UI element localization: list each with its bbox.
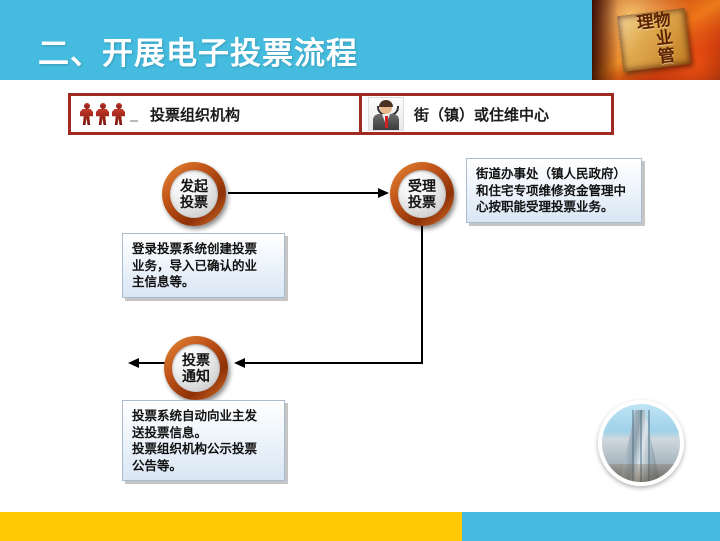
building-photo	[598, 400, 684, 486]
connector-initiate-to-accept	[228, 192, 380, 194]
arrowhead-to-notify	[234, 358, 245, 368]
operator-avatar-icon	[368, 97, 404, 131]
connector-accept-to-notify	[244, 362, 423, 364]
flow-node-accept-vote[interactable]: 受理 投票	[390, 162, 454, 226]
arrowhead-to-accept	[378, 188, 389, 198]
photo-shadow-band	[592, 0, 618, 80]
slide-canvas: 二、开展电子投票流程 物业管理 投票组织机构 街（镇）或住维中心	[0, 0, 720, 541]
flow-node-notify-line1: 投票	[182, 352, 210, 368]
flow-node-initiate-line1: 发起	[180, 178, 208, 194]
footer-bar-yellow	[0, 512, 462, 541]
callout-notify-line1: 投票系统自动向业主发	[132, 408, 276, 425]
flow-node-accept-line1: 受理	[408, 178, 436, 194]
flow-node-accept-line2: 投票	[408, 194, 436, 210]
callout-accept-line2: 和住宅专项维修资金管理中	[476, 183, 633, 200]
arrowhead-notify-out	[128, 358, 139, 368]
property-management-photo: 物业管理	[592, 0, 720, 80]
callout-notify-line4: 公告等。	[132, 458, 276, 475]
legend-cell-organizer: 投票组织机构	[71, 96, 359, 132]
photo-plaque: 物业管理	[617, 8, 691, 72]
footer-bar-cyan	[462, 512, 720, 541]
flow-node-initiate-vote[interactable]: 发起 投票	[162, 162, 226, 226]
callout-initiate-line1: 登录投票系统创建投票	[132, 241, 276, 258]
legend-cell-street-center: 街（镇）或住维中心	[362, 96, 611, 132]
callout-initiate-vote: 登录投票系统创建投票 业务，导入已确认的业 主信息等。	[122, 233, 285, 298]
callout-notify-line3: 投票组织机构公示投票	[132, 441, 276, 458]
connector-accept-down	[421, 226, 423, 364]
legend-label-street-center: 街（镇）或住维中心	[414, 104, 549, 125]
connector-notify-out	[138, 362, 166, 364]
legend-box: 投票组织机构 街（镇）或住维中心	[68, 93, 614, 135]
callout-vote-notice: 投票系统自动向业主发 送投票信息。 投票组织机构公示投票 公告等。	[122, 400, 285, 481]
callout-accept-line1: 街道办事处（镇人民政府）	[476, 166, 633, 183]
flow-node-initiate-line2: 投票	[180, 194, 208, 210]
flow-node-notify-line2: 通知	[182, 368, 210, 384]
callout-notify-line2: 送投票信息。	[132, 425, 276, 442]
flow-node-vote-notice[interactable]: 投票 通知	[164, 336, 228, 400]
legend-label-organizer: 投票组织机构	[150, 104, 240, 125]
callout-accept-line3: 心按职能受理投票业务。	[476, 199, 633, 216]
three-people-icon	[80, 103, 138, 125]
callout-accept-vote: 街道办事处（镇人民政府） 和住宅专项维修资金管理中 心按职能受理投票业务。	[466, 158, 642, 223]
callout-initiate-line3: 主信息等。	[132, 274, 276, 291]
callout-initiate-line2: 业务，导入已确认的业	[132, 258, 276, 275]
photo-plaque-text: 物业管理	[634, 10, 675, 70]
page-title: 二、开展电子投票流程	[38, 28, 358, 73]
